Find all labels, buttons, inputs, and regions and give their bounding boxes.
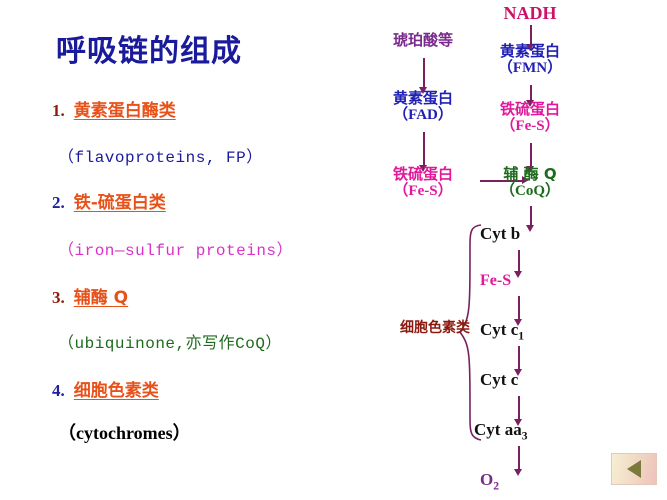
- list-item-subtext: （ubiquinone,亦写作CoQ）: [58, 329, 282, 353]
- subscript: 3: [522, 429, 528, 442]
- diagram-node-cyt-c: Cyt c: [480, 370, 590, 389]
- diagram-node-flavoprotein-fad: 黄素蛋白 （FAD）: [363, 90, 483, 124]
- list-item-number: 2.: [52, 193, 74, 212]
- list-item: 1.黄素蛋白酶类: [52, 96, 176, 121]
- diagram-node-cyt-aa3: Cyt aa3: [474, 420, 594, 443]
- list-item-term: 黄素蛋白酶类: [74, 101, 176, 121]
- list-item-number: 1.: [52, 101, 74, 120]
- triangle-left-icon: [627, 460, 641, 478]
- list-item-number: 3.: [52, 288, 74, 307]
- slide-canvas: 呼吸链的组成 1.黄素蛋白酶类 （flavoproteins, FP） 2.铁-…: [0, 0, 667, 500]
- list-item-term: 铁-硫蛋白类: [74, 193, 166, 213]
- diagram-node-fes-left: 铁硫蛋白 （Fe-S）: [363, 166, 483, 200]
- list-item: 3.辅酶 Q: [52, 283, 128, 308]
- diagram-node-fes-cyt: Fe-S: [480, 272, 590, 290]
- list-item: 4.细胞色素类: [52, 376, 159, 401]
- diagram-node-oxygen: O2: [480, 470, 590, 493]
- diagram-node-fes-right: 铁硫蛋白 （Fe-S）: [470, 101, 590, 135]
- diagram-node-succinate: 琥珀酸等: [368, 32, 478, 49]
- list-item: 2.铁-硫蛋白类: [52, 188, 166, 213]
- diagram-node-flavoprotein-fmn: 黄素蛋白 （FMN）: [470, 43, 590, 77]
- previous-slide-button[interactable]: [611, 453, 657, 485]
- respiratory-chain-diagram: 琥珀酸等 黄素蛋白 （FAD） 铁硫蛋白 （Fe-S） NADH: [352, 0, 667, 500]
- diagram-node-nadh: NADH: [475, 3, 585, 23]
- list-item-number: 4.: [52, 381, 74, 400]
- list-item-term: 细胞色素类: [74, 381, 159, 401]
- list-item-subtext: （iron—sulfur proteins）: [58, 236, 293, 260]
- subscript: 2: [493, 479, 499, 492]
- diagram-node-cyt-c1: Cyt c1: [480, 320, 590, 343]
- diagram-node-coq: 辅 酶 Q （CoQ）: [470, 166, 590, 200]
- diagram-node-cyt-b: Cyt b: [480, 224, 590, 243]
- subscript: 1: [518, 329, 524, 342]
- list-item-subtext: （flavoproteins, FP）: [58, 143, 263, 167]
- cytochrome-group-label: 细胞色素类: [400, 317, 470, 337]
- page-title: 呼吸链的组成: [56, 26, 242, 70]
- content-panel: 呼吸链的组成 1.黄素蛋白酶类 （flavoproteins, FP） 2.铁-…: [0, 0, 352, 500]
- list-item-term: 辅酶 Q: [74, 288, 128, 308]
- list-item-subtext: （cytochromes）: [58, 419, 191, 445]
